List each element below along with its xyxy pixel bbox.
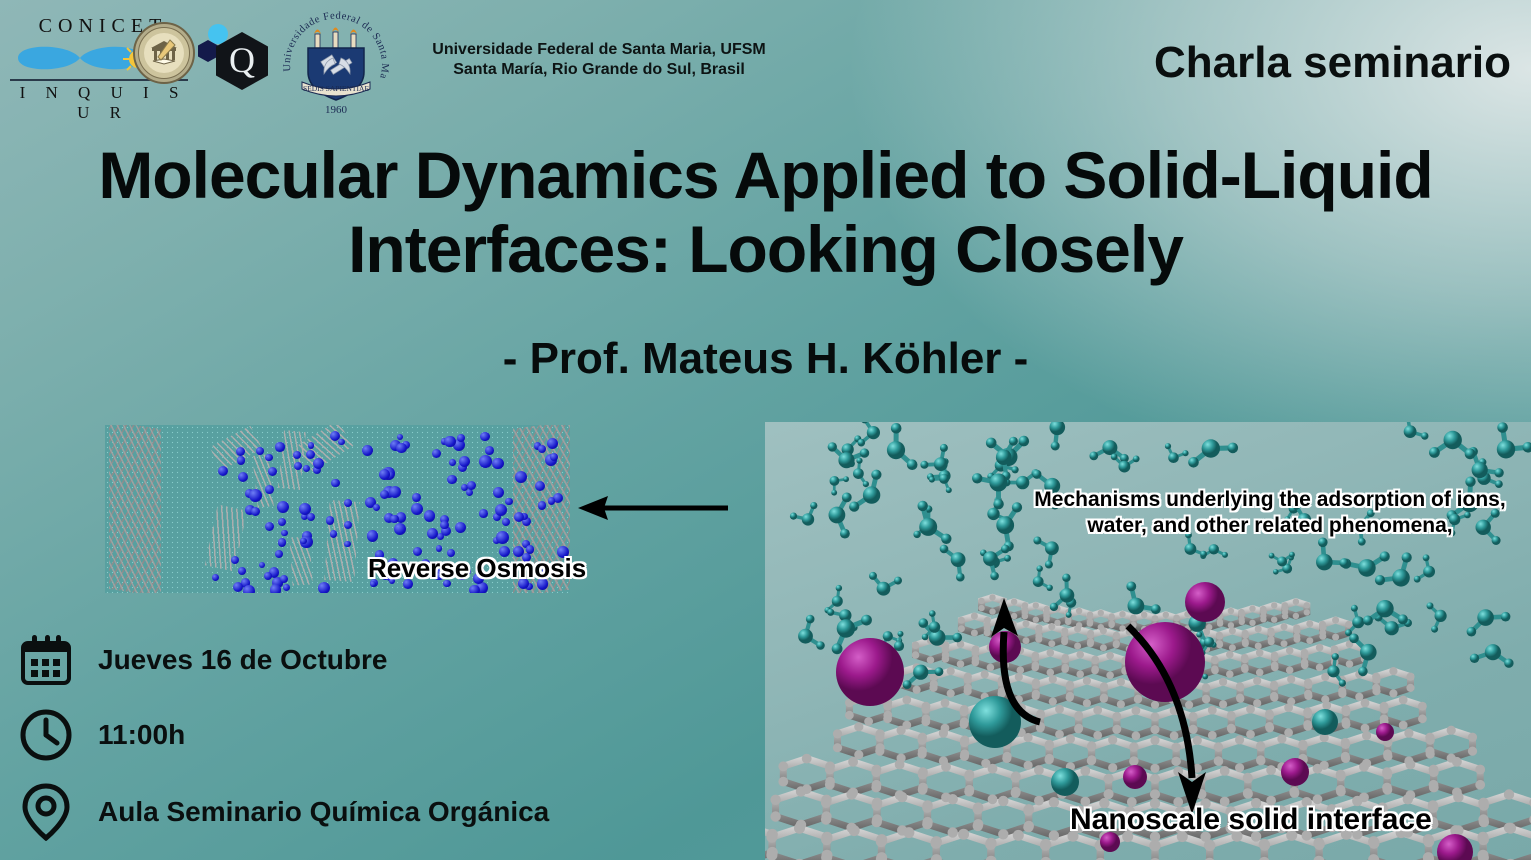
water-sphere (861, 615, 872, 626)
ion-particle (469, 585, 480, 593)
water-sphere (929, 610, 936, 617)
water-sphere (1045, 561, 1053, 569)
calendar-icon (16, 630, 76, 690)
ion-particle (440, 521, 449, 530)
ion-particle (389, 486, 401, 498)
ion-particle (256, 447, 264, 455)
water-sphere (802, 513, 814, 525)
water-sphere (883, 631, 893, 641)
location-pin-icon (16, 782, 76, 842)
water-sphere (1494, 468, 1503, 477)
water-sphere (1182, 450, 1188, 456)
water-sphere (1009, 437, 1018, 446)
water-sphere (853, 468, 864, 479)
water-sphere (1423, 566, 1435, 578)
water-sphere (838, 452, 854, 468)
water-sphere (798, 629, 813, 644)
ion-particle (459, 456, 470, 467)
water-sphere (919, 518, 937, 536)
water-sphere (989, 474, 1007, 492)
water-sphere (1016, 476, 1029, 489)
ion-particle (479, 455, 492, 468)
water-sphere (1185, 543, 1197, 555)
ion-particle (275, 550, 283, 558)
water-sphere (887, 441, 905, 459)
ion-particle (243, 585, 255, 593)
ion-particle (496, 531, 509, 544)
water-sphere (840, 529, 850, 539)
water-sphere (1504, 659, 1513, 668)
water-sphere (1427, 602, 1434, 609)
detail-location: Aula Seminario Química Orgánica (16, 782, 549, 842)
ion-particle (238, 472, 248, 482)
affiliation-text: Universidade Federal de Santa Maria, UFS… (404, 40, 794, 80)
ion-particle (485, 446, 494, 455)
caption-nanoscale: Nanoscale solid interface (1070, 803, 1432, 837)
water-sphere (903, 680, 912, 689)
water-sphere (832, 643, 843, 654)
water-sphere (1421, 432, 1428, 439)
water-sphere (1477, 609, 1494, 626)
ion-particle (293, 451, 301, 459)
water-sphere (836, 585, 842, 591)
ion-particle (379, 469, 390, 480)
water-sphere (1444, 431, 1462, 449)
water-sphere (953, 633, 963, 643)
water-sphere (1358, 559, 1376, 577)
ion-particle (548, 497, 556, 505)
water-sphere (863, 486, 880, 503)
pointer-arrow-icon (578, 494, 728, 522)
ion-particle (390, 515, 399, 524)
water-sphere (1012, 502, 1022, 512)
water-sphere (987, 508, 999, 520)
water-sphere (1165, 443, 1171, 449)
ion-particle (275, 442, 284, 451)
event-type-label: Charla seminario (1154, 38, 1511, 88)
affiliation-line-2: Santa María, Rio Grande do Sul, Brasil (404, 60, 794, 80)
ion-particle (455, 522, 466, 533)
ion-particle (306, 450, 315, 459)
water-sphere (919, 618, 929, 628)
water-sphere (1470, 654, 1479, 663)
water-sphere (1465, 477, 1475, 487)
water-sphere (934, 457, 948, 471)
water-sphere (1431, 626, 1438, 633)
water-sphere (939, 474, 949, 484)
ion-sphere (836, 638, 904, 706)
water-sphere (1126, 582, 1136, 592)
ion-particle (480, 432, 490, 442)
water-sphere (983, 551, 998, 566)
water-sphere (1392, 569, 1410, 587)
water-sphere (1380, 551, 1390, 561)
water-sphere (1523, 442, 1531, 453)
water-sphere (816, 641, 825, 650)
water-sphere (831, 490, 837, 496)
ion-particle (237, 456, 246, 465)
water-sphere (1045, 541, 1059, 555)
detail-time: 11:00h (16, 705, 185, 765)
water-sphere (1423, 554, 1430, 561)
svg-text:SEDIS SAPIENTIAE: SEDIS SAPIENTIAE (303, 84, 369, 93)
water-sphere (830, 476, 840, 486)
water-sphere (1273, 569, 1279, 575)
water-sphere (860, 448, 869, 457)
inquisur-wordmark: I N Q U I S U R (10, 83, 196, 123)
water-sphere (1188, 457, 1199, 468)
water-sphere (913, 531, 920, 538)
ion-particle (270, 584, 282, 593)
graphene-membrane-left (109, 425, 161, 593)
ion-particle (424, 510, 435, 521)
ion-particle (330, 530, 338, 538)
water-sphere (1414, 576, 1421, 583)
speaker-name: - Prof. Mateus H. Köhler - (60, 334, 1471, 384)
ion-particle (212, 574, 219, 581)
water-sphere (946, 487, 952, 493)
water-sphere (1032, 470, 1041, 479)
water-sphere (1111, 454, 1118, 461)
water-sphere (918, 501, 928, 511)
ion-particle (299, 503, 311, 515)
water-sphere (1062, 574, 1070, 582)
water-sphere (1012, 466, 1019, 473)
ion-particle (367, 530, 378, 541)
ion-particle (411, 503, 423, 515)
water-sphere (1222, 552, 1228, 558)
ion-particle (283, 584, 290, 591)
water-sphere (956, 573, 965, 582)
water-sphere (1402, 552, 1412, 562)
water-sphere (894, 577, 902, 585)
water-sphere (1001, 545, 1010, 554)
water-sphere (1277, 557, 1287, 567)
water-sphere (907, 459, 918, 470)
ion-particle (251, 507, 260, 516)
water-sphere (1316, 554, 1333, 571)
seminar-poster: CONICET I N Q U I S U R (0, 0, 1531, 860)
detail-time-label: 11:00h (98, 719, 185, 751)
water-sphere (858, 439, 866, 447)
water-sphere (929, 477, 935, 483)
ion-particle (326, 516, 335, 525)
ion-particle (467, 481, 476, 490)
svg-text:1960: 1960 (325, 104, 348, 116)
water-sphere (1004, 555, 1011, 562)
water-sphere (913, 665, 928, 680)
ufsm-crest-logo: Universidade Federal de Santa Maria (278, 6, 394, 118)
water-sphere (1102, 440, 1117, 455)
water-sphere (1289, 552, 1295, 558)
ion-particle (447, 475, 456, 484)
water-sphere (1033, 576, 1044, 587)
water-sphere (996, 449, 1012, 465)
blue-dot-icon (208, 24, 228, 44)
water-sphere (920, 461, 928, 469)
ion-particle (427, 528, 438, 539)
water-sphere (856, 458, 862, 464)
ion-particle (338, 439, 345, 446)
q-letter: Q (229, 42, 255, 78)
water-sphere (1050, 422, 1066, 435)
water-sphere (1385, 621, 1399, 635)
water-sphere (996, 516, 1014, 534)
water-sphere (1269, 553, 1275, 559)
ion-particle (412, 493, 421, 502)
water-sphere (842, 493, 852, 503)
ion-particle (444, 436, 456, 448)
water-sphere (1497, 422, 1508, 433)
water-sphere (1202, 439, 1220, 457)
ion-particle (344, 499, 352, 507)
water-sphere (951, 552, 966, 567)
caption-reverse-osmosis: Reverse Osmosis (368, 553, 586, 584)
water-sphere (1501, 612, 1511, 622)
quimica-q-logo: Q (198, 18, 270, 90)
ion-particle (449, 459, 456, 466)
ion-particle (479, 509, 488, 518)
water-sphere (1472, 462, 1488, 478)
water-sphere (843, 476, 849, 482)
water-sphere (810, 502, 817, 509)
nanoflake (324, 500, 360, 582)
water-sphere (828, 442, 837, 451)
ion-particle (493, 487, 504, 498)
water-sphere (940, 444, 948, 452)
water-sphere (867, 426, 880, 439)
water-sphere (1398, 614, 1408, 624)
ion-sphere (1437, 834, 1473, 860)
ion-particle (300, 538, 307, 545)
water-sphere (1485, 644, 1501, 660)
water-sphere (827, 609, 834, 616)
water-sphere (869, 572, 877, 580)
water-sphere (929, 621, 940, 632)
ion-particle (265, 454, 273, 462)
caption-mechanisms: Mechanisms underlying the adsorption of … (1030, 487, 1510, 539)
ion-particle (265, 485, 274, 494)
water-sphere (806, 615, 815, 624)
water-sphere (935, 667, 944, 676)
water-sphere (1375, 575, 1385, 585)
water-sphere (1467, 627, 1477, 637)
page-title: Molecular Dynamics Applied to Solid-Liqu… (60, 138, 1471, 286)
water-sphere (922, 634, 929, 641)
water-sphere (1435, 610, 1447, 622)
water-sphere (972, 473, 982, 483)
water-sphere (941, 534, 951, 544)
clock-icon (16, 705, 76, 765)
water-sphere (1200, 551, 1207, 558)
water-sphere (1133, 456, 1140, 463)
water-sphere (993, 499, 1003, 509)
water-sphere (1497, 440, 1515, 458)
water-sphere (986, 438, 997, 449)
water-sphere (829, 507, 846, 524)
ion-particle (318, 582, 330, 593)
water-sphere (898, 631, 904, 637)
water-sphere (990, 572, 999, 581)
uns-seal-logo (133, 22, 195, 84)
water-sphere (837, 619, 855, 637)
water-sphere (1228, 443, 1239, 454)
water-sphere (877, 582, 891, 596)
water-sphere (790, 513, 797, 520)
water-sphere (1465, 448, 1476, 459)
water-sphere (1089, 452, 1098, 461)
water-sphere (832, 596, 843, 607)
water-sphere (891, 423, 902, 434)
water-sphere (1339, 558, 1349, 568)
poster-header: CONICET I N Q U I S U R (0, 0, 1531, 120)
ion-particle (344, 541, 351, 548)
detail-date: Jueves 16 de Octubre (16, 630, 387, 690)
ion-particle (373, 504, 380, 511)
water-sphere (1168, 452, 1179, 463)
ion-particle (249, 489, 262, 502)
water-sphere (1047, 585, 1053, 591)
ion-particle (436, 545, 443, 552)
ion-particle (278, 538, 286, 546)
ion-particle (278, 518, 287, 527)
water-sphere (1019, 436, 1030, 447)
water-sphere (871, 470, 881, 480)
ion-particle (538, 501, 546, 509)
ion-particle (264, 572, 272, 580)
water-sphere (1051, 442, 1060, 451)
water-sphere (1404, 425, 1417, 438)
water-sphere (940, 545, 949, 554)
ion-particle (492, 458, 504, 470)
water-sphere (1119, 461, 1131, 473)
water-sphere (1429, 447, 1440, 458)
water-sphere (1209, 544, 1219, 554)
detail-date-label: Jueves 16 de Octubre (98, 644, 387, 676)
water-sphere (863, 481, 869, 487)
water-sphere (849, 502, 859, 512)
water-sphere (1037, 565, 1043, 571)
affiliation-line-1: Universidade Federal de Santa Maria, UFS… (404, 40, 794, 60)
detail-location-label: Aula Seminario Química Orgánica (98, 796, 549, 828)
